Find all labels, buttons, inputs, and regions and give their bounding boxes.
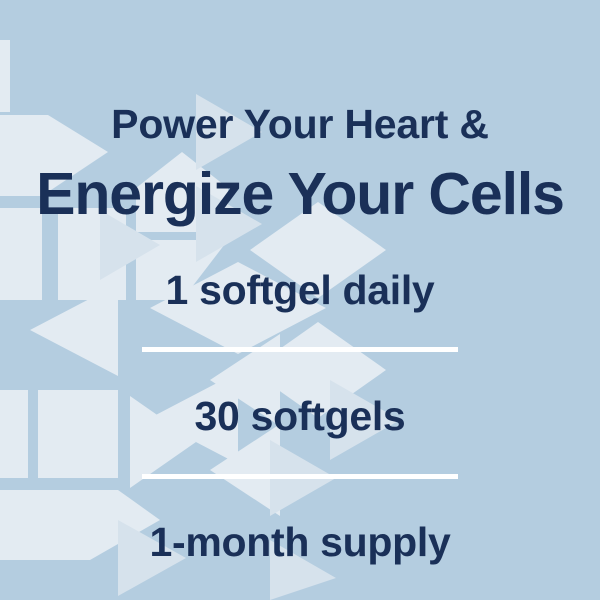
spec-dose: 1 softgel daily bbox=[166, 270, 435, 311]
divider-two bbox=[142, 474, 458, 479]
banner-content: Power Your Heart & Energize Your Cells 1… bbox=[0, 0, 600, 600]
headline-main: Energize Your Cells bbox=[36, 165, 564, 224]
spec-count: 30 softgels bbox=[195, 396, 406, 437]
product-claim-banner: Power Your Heart & Energize Your Cells 1… bbox=[0, 0, 600, 600]
headline-kicker: Power Your Heart & bbox=[111, 104, 489, 145]
divider-one bbox=[142, 347, 458, 352]
spec-supply: 1-month supply bbox=[149, 522, 450, 563]
